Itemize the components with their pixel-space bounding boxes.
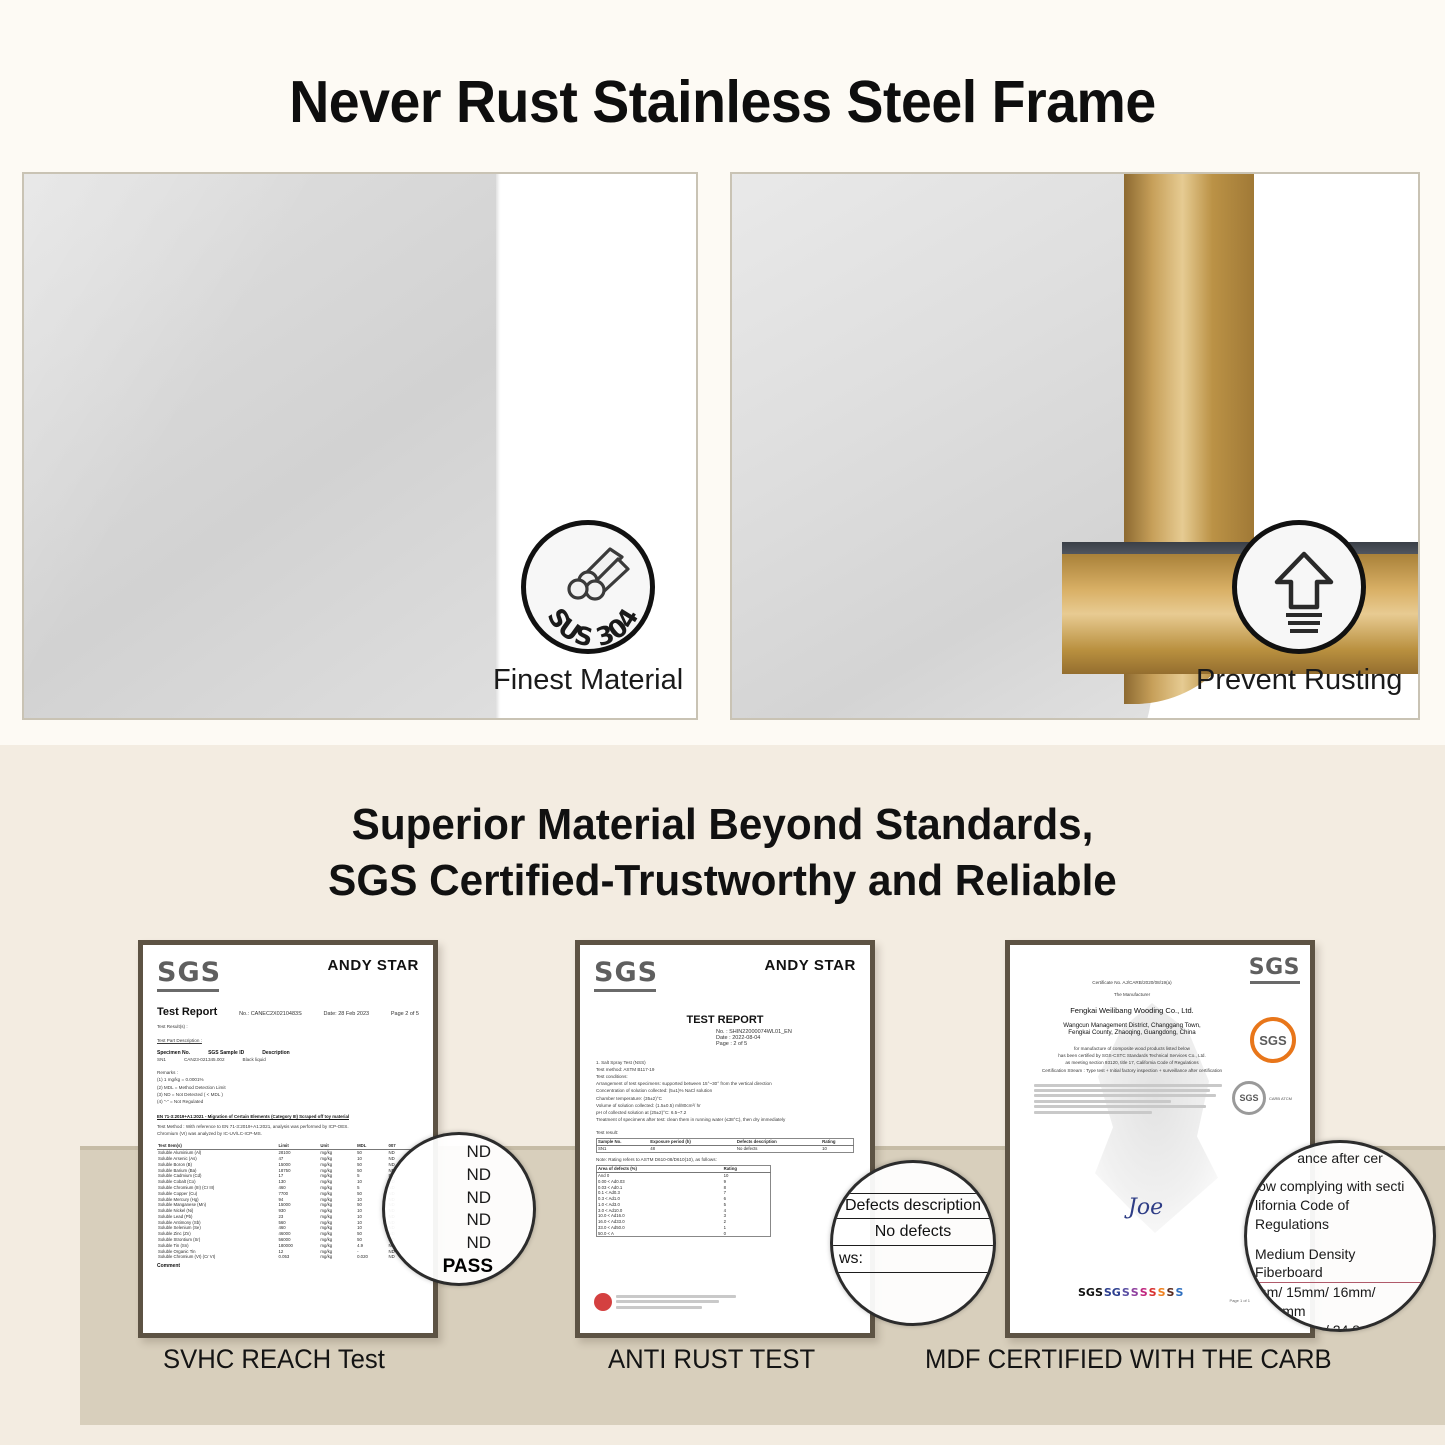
cell-defects: No defects: [736, 1145, 821, 1152]
report-date: Date: 28 Feb 2023: [324, 1011, 370, 1017]
spec-value-1: CAN23-021345.002: [184, 1056, 225, 1063]
col-area-defects: Area of defects (%): [597, 1165, 723, 1172]
condition-1: Concentration of solution collected: (5±…: [596, 1087, 854, 1094]
rating-note: Note: Rating refers to ASTM D610-08/D610…: [596, 1156, 854, 1163]
sgs-strip-logos: SGSSGSSSSSSS: [1078, 1286, 1183, 1299]
rating-table-body: And 0100.00 < Ad0.0390.03 < Ad0.180.1 < …: [597, 1172, 771, 1237]
lens-value-1: ND: [385, 1164, 533, 1187]
company-name: Fengkai Weilibang Wooding Co., Ltd.: [1034, 1006, 1230, 1015]
sgs-logo-underline: [594, 989, 656, 992]
table-row: 50.0 < A0: [597, 1230, 771, 1236]
magnifier-svhc-results: ND ND ND ND ND PASS: [382, 1132, 536, 1286]
signature: Joe: [1128, 1195, 1163, 1220]
footer-text-lines: [616, 1292, 736, 1311]
remark-1: (2) MDL = Method Detection Limit: [157, 1084, 419, 1091]
badge-finest-material: SUS 304 Finest Material: [493, 520, 683, 697]
col-rating-value: Rating: [723, 1165, 771, 1172]
table-header-row: Sample No. Exposure period (h) Defects d…: [597, 1139, 854, 1146]
cell-2: mg/kg: [319, 1254, 356, 1260]
sus-304-badge: SUS 304: [521, 520, 655, 654]
sgs-logo-underline: [157, 989, 219, 992]
magnifier-mdf-details: ance after cer low complying with secti …: [1244, 1140, 1436, 1332]
certificate-anti-rust[interactable]: SGS ANDY STAR TEST REPORT No. : SHIN2200…: [575, 940, 875, 1338]
sgs-color-strip: SGSSGSSSSSSS: [1078, 1286, 1183, 1299]
badge-caption: Finest Material: [493, 664, 683, 697]
lens-line-4: Medium Density Fiberboard: [1255, 1245, 1425, 1283]
lens-value: No defects: [833, 1219, 993, 1245]
sgs-logo-block: SGS: [594, 957, 658, 992]
cell-0: 50.0 < A: [597, 1230, 723, 1236]
lens-value-3: ND: [385, 1209, 533, 1232]
caption-mdf-carb: MDF CERTIFIED WITH THE CARB: [925, 1344, 1332, 1375]
spec-value-0: SN1: [157, 1056, 166, 1063]
manufacturer-label: The Manufacturer: [1034, 991, 1230, 998]
prevent-rusting-badge: [1232, 520, 1366, 654]
certificate-header: SGS ANDY STAR: [580, 945, 870, 992]
cell-3: 0.020: [356, 1254, 387, 1260]
company-address-line2: Fengkai County, Zhaoqing, Guangdong, Chi…: [1034, 1029, 1230, 1036]
report-title: Test Report: [157, 1006, 217, 1018]
sgs-logo-block: SGS: [157, 957, 221, 992]
lens-value-4: ND: [385, 1232, 533, 1255]
certificate-body-block: [1034, 1084, 1230, 1114]
lens-fragment: ws:: [833, 1246, 993, 1272]
sgs-logo: SGS: [157, 957, 221, 988]
cell-exposure: 48: [649, 1145, 736, 1152]
method-line-2: Chromium (VI) was analyzed by IC-UV/LC-I…: [157, 1130, 419, 1137]
sus-304-label: SUS 304: [526, 525, 660, 659]
body-line-2: as meeting section 93120, title 17, Cali…: [1034, 1059, 1230, 1066]
report-title: TEST REPORT: [596, 1014, 854, 1026]
section-heading-line1: Superior Material Beyond Standards,: [29, 797, 1416, 853]
report-number: No.: CANEC2X0210483S: [239, 1011, 302, 1017]
body-line-1: has been certified by SGS-CSTC Standards…: [1034, 1052, 1230, 1059]
result-label: Test Result(s) :: [157, 1023, 419, 1030]
cell-0: Soluble Chromium (VI) (Cr VI): [157, 1254, 278, 1260]
certificate-number: Certificate No. AJ/CARB/2020/08/19(a): [1034, 979, 1230, 986]
caption-svhc-reach: SVHC REACH Test: [163, 1344, 385, 1375]
section-heading-line2: SGS Certified-Trustworthy and Reliable: [29, 853, 1416, 909]
mirror-sheen: [22, 172, 324, 720]
page-label: Page 1 of 1: [1230, 1298, 1250, 1303]
andy-star-logo: ANDY STAR: [764, 957, 856, 974]
cell-1: 0: [723, 1230, 771, 1236]
table-header-row: Area of defects (%) Rating: [597, 1165, 771, 1172]
cnas-seal-icon: [594, 1293, 612, 1311]
col-sample-no: Sample No.: [597, 1139, 650, 1146]
test-method: Test method: ASTM B117-19: [596, 1066, 854, 1073]
body-line-0: for manufacture of composite wood produc…: [1034, 1045, 1230, 1052]
cell-1: 0.053: [278, 1254, 320, 1260]
remark-2: (3) ND = Not Detected ( < MDL ): [157, 1091, 419, 1098]
section-heading: Superior Material Beyond Standards, SGS …: [29, 797, 1416, 909]
part-description-label: Test Part Description :: [157, 1037, 419, 1044]
rating-table: Area of defects (%) Rating And 0100.00 <…: [596, 1165, 771, 1237]
condition-5: Treatment of specimens after test: clean…: [596, 1116, 854, 1123]
lens-line-2: low complying with secti: [1255, 1177, 1425, 1196]
certificate-footer: [594, 1292, 736, 1311]
lens-value-2: ND: [385, 1187, 533, 1210]
col-defects: Defects description: [736, 1139, 821, 1146]
spec-value-2: Black liquid: [243, 1056, 266, 1063]
conditions-label: Test conditions:: [596, 1073, 854, 1080]
remarks-label: Remarks :: [157, 1069, 419, 1076]
comment-label: Comment: [157, 1263, 419, 1269]
andy-star-logo: ANDY STAR: [327, 957, 419, 974]
condition-2: Chamber temperature: (35±2)°C: [596, 1095, 854, 1102]
company-address-line1: Wangcun Management District, Changgang T…: [1034, 1022, 1230, 1029]
defects-table: Sample No. Exposure period (h) Defects d…: [596, 1138, 854, 1153]
body-line-3: Certification Stream : Type test + Initi…: [1034, 1067, 1230, 1074]
report-page: Page : 2 of 5: [716, 1041, 854, 1047]
method-line-1: Test Method : With reference to EN 71-3:…: [157, 1123, 419, 1130]
certificate-header: SGS ANDY STAR: [143, 945, 433, 992]
sgs-logo: SGS: [594, 957, 658, 988]
condition-4: pH of collected solution at (25±2)°C: 6.…: [596, 1109, 854, 1116]
result-label: Test result:: [596, 1129, 854, 1136]
svg-text:SUS 304: SUS 304: [542, 603, 645, 653]
elements-table: Test Item(s) Limit Unit MDL 007 Soluble …: [157, 1143, 419, 1260]
table-row: Soluble Chromium (VI) (Cr VI)0.053mg/kg0…: [157, 1254, 419, 1260]
lens-line-3: lifornia Code of Regulations: [1255, 1196, 1425, 1234]
remark-3: (4) "-" = Not Regulated: [157, 1098, 419, 1105]
top-feature-section: Never Rust Stainless Steel Frame: [0, 0, 1445, 745]
cell-rating: 10: [821, 1145, 853, 1152]
test-name: 1. Salt Spray Test (NSS): [596, 1059, 854, 1066]
section-title: EN 71-3:2019+A1:2021 - Migration of Cert…: [157, 1114, 349, 1120]
condition-3: Volume of solution collected: (1.5±0.5) …: [596, 1102, 854, 1109]
magnifier-defects: Defects description No defects ws:: [830, 1160, 996, 1326]
col-rating: Rating: [821, 1139, 853, 1146]
remark-0: (1) 1 mg/kg = 0.0001%: [157, 1076, 419, 1083]
report-page: Page 2 of 5: [391, 1011, 419, 1017]
cell-sample-no: SN1: [597, 1145, 650, 1152]
table-row: SN1 48 No defects 10: [597, 1145, 854, 1152]
up-arrow-icon: [1271, 549, 1337, 635]
badge-caption: Prevent Rusting: [1196, 664, 1402, 697]
elements-table-body: Soluble Aluminium (Al)28100mg/kg50NDSolu…: [157, 1149, 419, 1259]
condition-0: Arrangement of test specimens: supported…: [596, 1080, 854, 1087]
badge-prevent-rusting: Prevent Rusting: [1196, 520, 1402, 697]
certificate-svhc-reach[interactable]: SGS ANDY STAR Test Report No.: CANEC2X02…: [138, 940, 438, 1338]
spec-header-2: Description: [262, 1050, 290, 1056]
col-exposure: Exposure period (h): [649, 1139, 736, 1146]
lens-header: Defects description: [833, 1194, 993, 1218]
caption-anti-rust: ANTI RUST TEST: [608, 1344, 815, 1375]
page-title: Never Rust Stainless Steel Frame: [43, 68, 1401, 136]
